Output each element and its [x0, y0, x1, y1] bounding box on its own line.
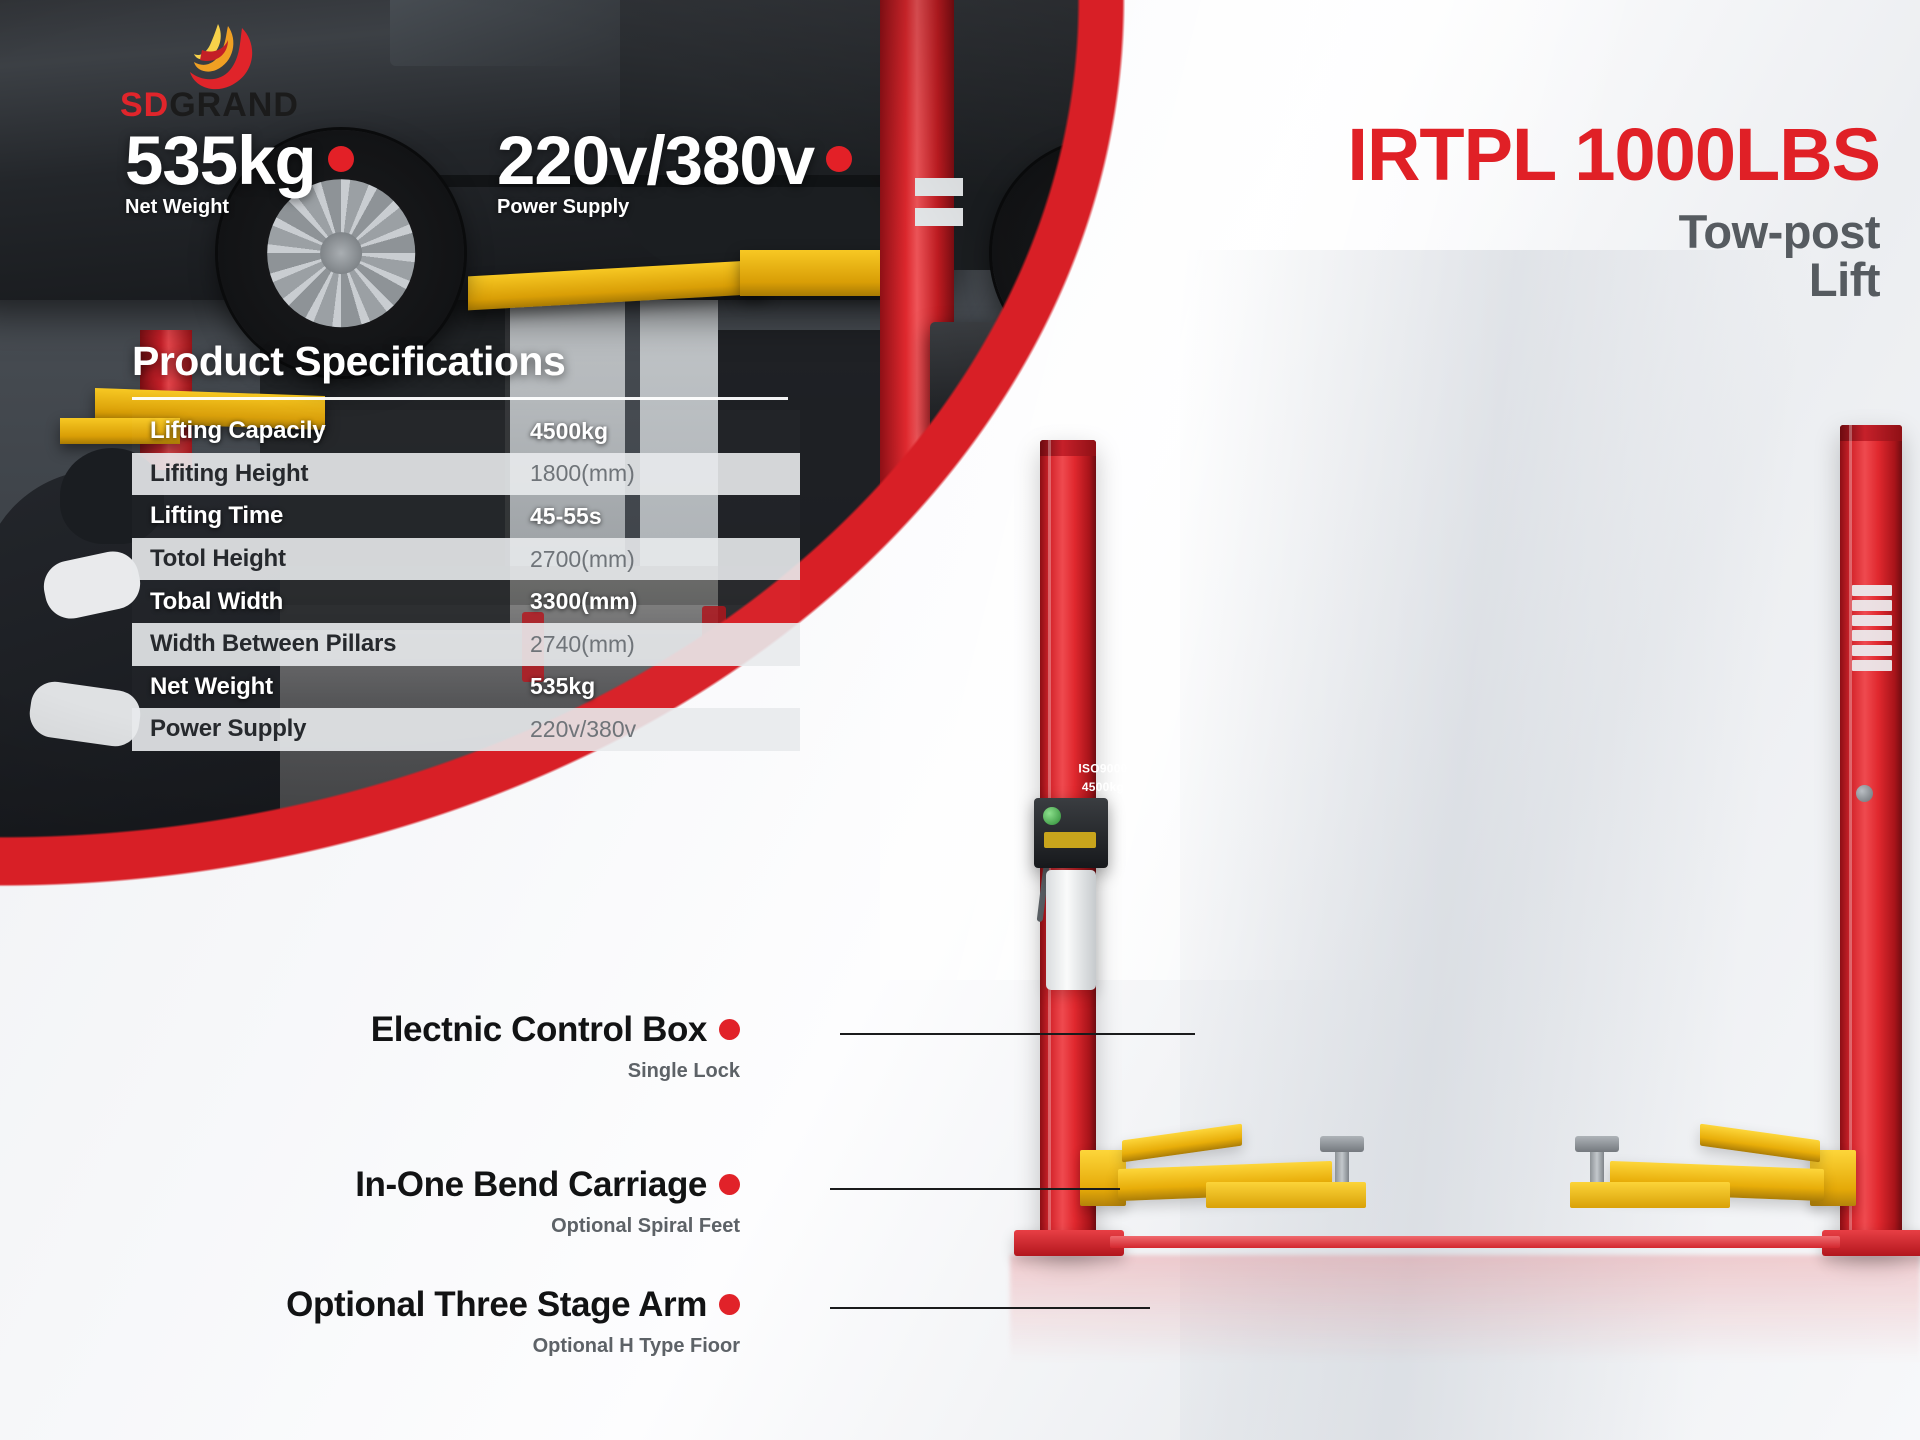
- red-dot-icon: [826, 146, 852, 172]
- specs-row: Width Between Pillars2740(mm): [132, 623, 800, 666]
- specs-row-value: 1800(mm): [530, 460, 635, 487]
- specs-row-value: 45-55s: [530, 503, 602, 530]
- hero-stat-number: 535kg: [125, 122, 316, 199]
- specs-row-key: Net Weight: [150, 673, 530, 701]
- brand-wordmark: SDGRAND: [120, 88, 299, 122]
- specs-row-key: Lifting Time: [150, 502, 530, 530]
- callout-subtitle: Single Lock: [200, 1060, 740, 1083]
- post-capacity-text: 4500kg: [1062, 778, 1145, 796]
- floor-reflection: [1010, 1255, 1920, 1405]
- product-type: Tow-post Lift: [1150, 208, 1880, 304]
- post-iso-text: ISO9000: [1062, 760, 1145, 778]
- specs-row-key: Width Between Pillars: [150, 630, 530, 658]
- specs-row-value: 4500kg: [530, 418, 608, 445]
- specs-row: Power Supply220v/380v: [132, 708, 800, 751]
- product-specifications: Product Specifications Lifting Capacily4…: [132, 338, 800, 751]
- specs-divider: [132, 397, 788, 400]
- specs-row-value: 220v/380v: [530, 716, 636, 743]
- callout-title: Optional Three Stage Arm: [160, 1285, 740, 1325]
- callout-title-text: Electnic Control Box: [371, 1010, 707, 1049]
- left-arm-extension: [1206, 1182, 1366, 1208]
- hero-stat-number: 220v/380v: [497, 122, 814, 199]
- red-dot-icon: [719, 1294, 740, 1315]
- specs-row-key: Lifting Capacily: [150, 417, 530, 445]
- specs-row-value: 3300(mm): [530, 588, 637, 615]
- product-headline: IRTPL 1000LBS Tow-post Lift: [1150, 118, 1880, 304]
- brand-logo: SDGRAND: [120, 22, 360, 122]
- left-lift-arm-upper: [1122, 1124, 1242, 1163]
- brand-name-part2: GRAND: [169, 86, 299, 124]
- specs-row-key: Lifiting Height: [150, 460, 530, 488]
- specs-row: Lifiting Height1800(mm): [132, 453, 800, 496]
- callout-carriage: In-One Bend Carriage Optional Spiral Fee…: [200, 1165, 740, 1238]
- hero-stat-value: 220v/380v: [497, 128, 852, 194]
- specs-row: Net Weight535kg: [132, 666, 800, 709]
- post-sticker: [1852, 600, 1892, 611]
- red-dot-icon: [328, 146, 354, 172]
- callout-control-box: Electnic Control Box Single Lock: [200, 1010, 740, 1083]
- leader-line-icon: [830, 1188, 1120, 1190]
- post-knob: [1856, 785, 1873, 802]
- specs-row-key: Totol Height: [150, 545, 530, 573]
- post-sticker: [1852, 645, 1892, 656]
- red-dot-icon: [719, 1174, 740, 1195]
- product-poster: SDGRAND 535kg Net Weight 220v/380v Power…: [0, 0, 1920, 1440]
- hero-stat-power-supply: 220v/380v Power Supply: [497, 128, 852, 219]
- post-sticker: [1852, 585, 1892, 596]
- callout-title: Electnic Control Box: [200, 1010, 740, 1050]
- post-sticker: [1852, 615, 1892, 626]
- specs-row: Lifting Capacily4500kg: [132, 410, 800, 453]
- lift-pad-stem: [1590, 1152, 1604, 1182]
- product-type-line1: Tow-post: [1150, 208, 1880, 256]
- right-lift-post: 4500: [1840, 425, 1902, 1250]
- lift-pad: [1320, 1136, 1364, 1152]
- right-arm-extension: [1570, 1182, 1730, 1208]
- specs-title: Product Specifications: [132, 338, 800, 385]
- callout-title-text: In-One Bend Carriage: [355, 1165, 707, 1204]
- post-certification-label: ISO9000 4500kg: [1062, 760, 1145, 796]
- callout-title-text: Optional Three Stage Arm: [286, 1285, 707, 1324]
- hero-stat-value: 535kg: [125, 128, 354, 194]
- brand-name-part1: SD: [120, 86, 169, 124]
- specs-row: Tobal Width3300(mm): [132, 580, 800, 623]
- post-capacity-vertical-label: 4500: [1828, 395, 1920, 501]
- post-sticker-group: [1852, 585, 1892, 675]
- post-sticker: [1852, 630, 1892, 641]
- hydraulic-tank: [1046, 870, 1096, 990]
- lift-pad-stem: [1335, 1152, 1349, 1182]
- left-base-plate: [1014, 1230, 1124, 1256]
- specs-table: Lifting Capacily4500kgLifiting Height180…: [132, 410, 800, 751]
- lift-pad: [1575, 1136, 1619, 1152]
- leader-line-icon: [840, 1033, 1195, 1035]
- callout-subtitle: Optional H Type Fioor: [160, 1335, 740, 1358]
- callout-subtitle: Optional Spiral Feet: [200, 1215, 740, 1238]
- specs-row: Lifting Time45-55s: [132, 495, 800, 538]
- specs-row-value: 535kg: [530, 673, 595, 700]
- electric-control-box: [1034, 798, 1108, 868]
- callout-three-stage-arm: Optional Three Stage Arm Optional H Type…: [160, 1285, 740, 1358]
- specs-row: Totol Height2700(mm): [132, 538, 800, 581]
- control-box-decal: [1044, 832, 1096, 848]
- product-illustration: ISO9000 4500kg 4500: [1010, 520, 1920, 1310]
- specs-row-value: 2740(mm): [530, 631, 635, 658]
- leader-line-icon: [830, 1307, 1150, 1309]
- power-indicator-icon: [1043, 807, 1061, 825]
- specs-row-key: Tobal Width: [150, 588, 530, 616]
- page-title: IRTPL 1000LBS: [1150, 118, 1880, 192]
- specs-row-key: Power Supply: [150, 715, 530, 743]
- product-type-line2: Lift: [1150, 256, 1880, 304]
- post-sticker: [1852, 660, 1892, 671]
- floor-plate: [1110, 1236, 1840, 1248]
- red-dot-icon: [719, 1019, 740, 1040]
- callout-title: In-One Bend Carriage: [200, 1165, 740, 1205]
- hero-stat-label: Power Supply: [497, 196, 852, 219]
- hero-stat-net-weight: 535kg Net Weight: [125, 128, 354, 219]
- specs-row-value: 2700(mm): [530, 546, 635, 573]
- post-seam: [1849, 425, 1852, 1250]
- hero-stat-label: Net Weight: [125, 196, 354, 219]
- flame-swirl-icon: [172, 22, 268, 96]
- right-lift-arm-upper: [1700, 1124, 1820, 1163]
